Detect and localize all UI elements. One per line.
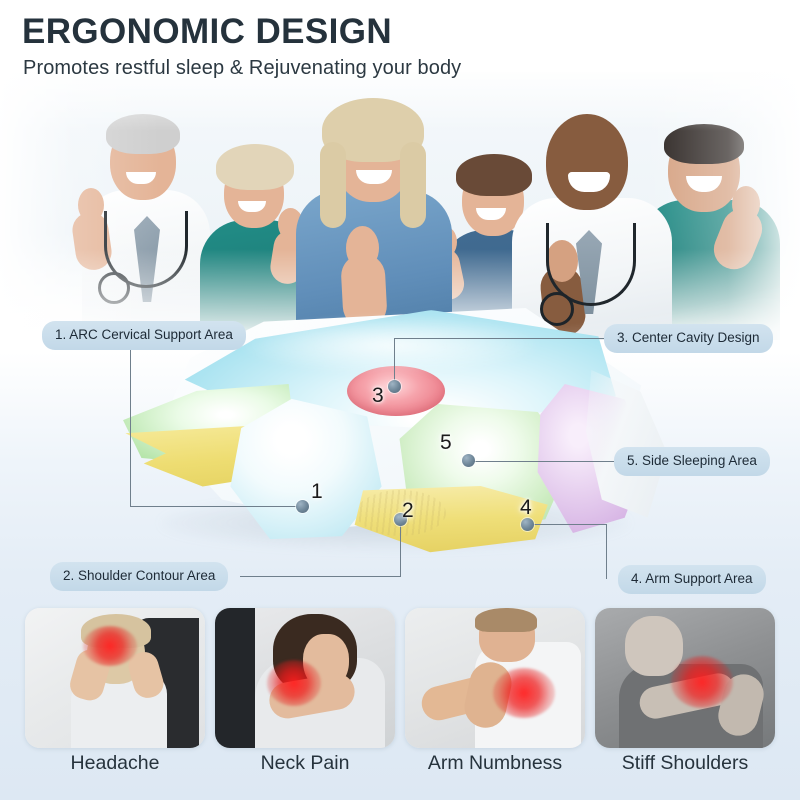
leader-line-3-vertical [394, 338, 395, 386]
leader-line-2-horizontal [240, 576, 401, 577]
marker-number-1: 1 [311, 481, 323, 502]
page-subtitle: Promotes restful sleep & Rejuvenating yo… [23, 58, 461, 78]
pain-highlight [267, 660, 321, 706]
symptom-caption-headache: Headache [25, 754, 205, 774]
pain-highlight [671, 656, 733, 708]
man-holding-shoulder-photo [595, 608, 775, 748]
symptom-card-neck-pain[interactable] [215, 608, 395, 748]
callout-label-1: 1. ARC Cervical Support Area [42, 321, 246, 350]
marker-dot-1 [296, 500, 309, 513]
pain-highlight [493, 668, 555, 718]
header: ERGONOMIC DESIGN Promotes restful sleep … [20, 14, 461, 78]
product-infographic: ERGONOMIC DESIGN Promotes restful sleep … [0, 0, 800, 800]
symptom-caption-stiff-shoulders: Stiff Shoulders [595, 754, 775, 774]
callout-label-4: 4. Arm Support Area [618, 565, 766, 594]
callout-label-5: 5. Side Sleeping Area [614, 447, 770, 476]
page-title: ERGONOMIC DESIGN [22, 14, 461, 49]
woman-holding-neck-photo [215, 608, 395, 748]
symptom-card-row: Headache Neck Pain Arm N [0, 608, 800, 800]
marker-number-2: 2 [402, 500, 414, 521]
leader-line-1-horizontal [130, 506, 302, 507]
symptom-card-arm-numbness[interactable] [405, 608, 585, 748]
symptom-card-stiff-shoulders[interactable] [595, 608, 775, 748]
leader-line-4-horizontal [527, 524, 607, 525]
leader-line-3-horizontal [394, 338, 606, 339]
symptom-card-headache[interactable] [25, 608, 205, 748]
symptom-caption-neck-pain: Neck Pain [215, 754, 395, 774]
woman-holding-head-photo [25, 608, 205, 748]
symptom-caption-arm-numbness: Arm Numbness [405, 754, 585, 774]
leader-line-4-vertical [606, 524, 607, 579]
marker-dot-3 [388, 380, 401, 393]
pillow-sheen [240, 316, 540, 374]
man-holding-arm-photo [405, 608, 585, 748]
marker-number-4: 4 [520, 497, 532, 518]
leader-line-5-horizontal [470, 461, 618, 462]
leader-line-1-vertical [130, 345, 131, 507]
leader-line-2-vertical [400, 520, 401, 577]
callout-label-2: 2. Shoulder Contour Area [50, 562, 228, 591]
callout-label-3: 3. Center Cavity Design [604, 324, 773, 353]
marker-number-5: 5 [440, 432, 452, 453]
marker-dot-4 [521, 518, 534, 531]
marker-number-3: 3 [372, 385, 384, 406]
marker-dot-5 [462, 454, 475, 467]
pain-highlight [83, 626, 137, 666]
